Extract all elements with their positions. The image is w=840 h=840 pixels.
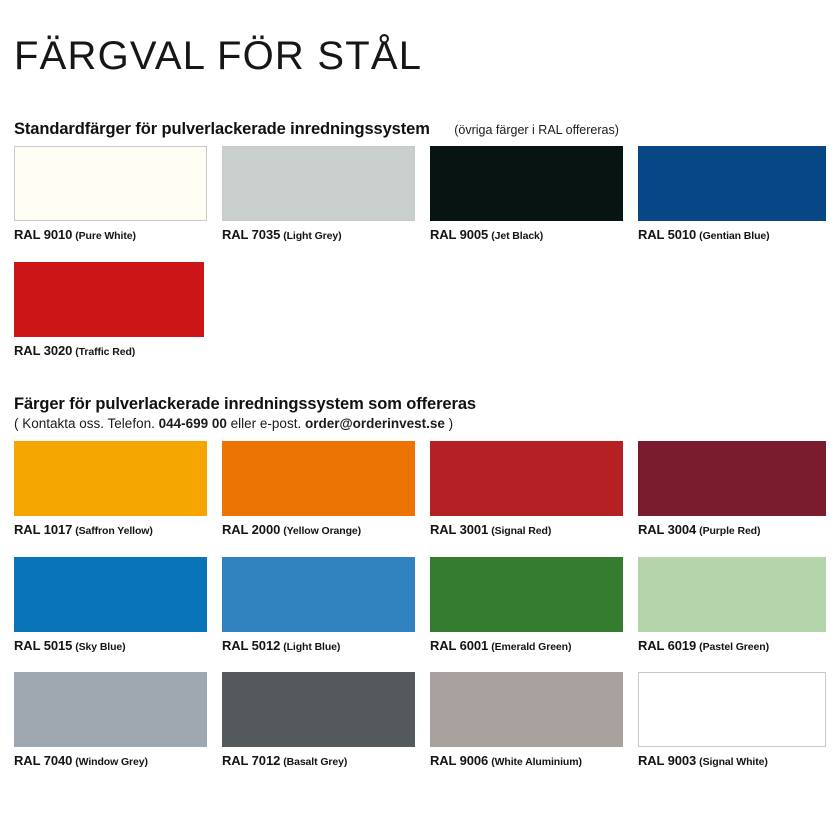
swatch-cell-ral-3004[interactable]: RAL 3004(Purple Red) bbox=[638, 441, 826, 539]
swatch-name: (Jet Black) bbox=[491, 230, 543, 242]
page-title: FÄRGVAL FÖR STÅL bbox=[14, 36, 422, 76]
swatch-code: RAL 9010 bbox=[14, 227, 72, 242]
swatch-name: (Signal Red) bbox=[491, 525, 551, 537]
color-swatch[interactable] bbox=[14, 672, 207, 747]
swatch-label: RAL 7035(Light Grey) bbox=[222, 226, 415, 244]
swatch-cell-ral-7035[interactable]: RAL 7035(Light Grey) bbox=[222, 146, 415, 244]
color-swatch[interactable] bbox=[14, 146, 207, 221]
swatch-label: RAL 5015(Sky Blue) bbox=[14, 637, 207, 655]
swatch-name: (Basalt Grey) bbox=[283, 756, 347, 768]
swatch-name: (Window Grey) bbox=[75, 756, 148, 768]
swatch-name: (Purple Red) bbox=[699, 525, 760, 537]
swatch-code: RAL 1017 bbox=[14, 522, 72, 537]
swatch-code: RAL 3001 bbox=[430, 522, 488, 537]
color-swatch[interactable] bbox=[638, 146, 826, 221]
swatch-name: (Yellow Orange) bbox=[283, 525, 361, 537]
color-swatch[interactable] bbox=[14, 557, 207, 632]
swatch-label: RAL 5012(Light Blue) bbox=[222, 637, 415, 655]
swatch-label: RAL 6019(Pastel Green) bbox=[638, 637, 826, 655]
swatch-cell-ral-3001[interactable]: RAL 3001(Signal Red) bbox=[430, 441, 623, 539]
swatch-name: (Sky Blue) bbox=[75, 641, 125, 653]
section-heading-offered: Färger för pulverlackerade inredningssys… bbox=[14, 395, 476, 414]
swatch-code: RAL 9005 bbox=[430, 227, 488, 242]
swatch-grid-standard: RAL 9010(Pure White)RAL 7035(Light Grey)… bbox=[14, 146, 826, 377]
contact-line: ( Kontakta oss. Telefon. 044-699 00 elle… bbox=[14, 416, 453, 431]
section-heading-offered-text: Färger för pulverlackerade inredningssys… bbox=[14, 395, 476, 413]
swatch-cell-ral-5010[interactable]: RAL 5010(Gentian Blue) bbox=[638, 146, 826, 244]
swatch-name: (Signal White) bbox=[699, 756, 768, 768]
swatch-code: RAL 5015 bbox=[14, 638, 72, 653]
swatch-row: RAL 3020(Traffic Red) bbox=[14, 262, 826, 378]
swatch-label: RAL 3004(Purple Red) bbox=[638, 521, 826, 539]
swatch-label: RAL 7012(Basalt Grey) bbox=[222, 752, 415, 770]
section-heading-standard: Standardfärger för pulverlackerade inred… bbox=[14, 120, 619, 139]
swatch-code: RAL 5012 bbox=[222, 638, 280, 653]
swatch-label: RAL 2000(Yellow Orange) bbox=[222, 521, 415, 539]
color-swatch[interactable] bbox=[638, 557, 826, 632]
color-swatch[interactable] bbox=[222, 441, 415, 516]
color-swatch[interactable] bbox=[430, 146, 623, 221]
contact-prefix: ( Kontakta oss. Telefon. bbox=[14, 416, 159, 431]
swatch-code: RAL 3004 bbox=[638, 522, 696, 537]
swatch-row: RAL 1017(Saffron Yellow)RAL 2000(Yellow … bbox=[14, 441, 826, 557]
swatch-grid-offered: RAL 1017(Saffron Yellow)RAL 2000(Yellow … bbox=[14, 441, 826, 788]
swatch-name: (Gentian Blue) bbox=[699, 230, 769, 242]
swatch-code: RAL 5010 bbox=[638, 227, 696, 242]
swatch-label: RAL 9003(Signal White) bbox=[638, 752, 826, 770]
swatch-code: RAL 2000 bbox=[222, 522, 280, 537]
swatch-cell-ral-6019[interactable]: RAL 6019(Pastel Green) bbox=[638, 557, 826, 655]
swatch-label: RAL 3001(Signal Red) bbox=[430, 521, 623, 539]
color-swatch[interactable] bbox=[222, 146, 415, 221]
swatch-cell-ral-9010[interactable]: RAL 9010(Pure White) bbox=[14, 146, 207, 244]
swatch-label: RAL 9010(Pure White) bbox=[14, 226, 207, 244]
swatch-label: RAL 1017(Saffron Yellow) bbox=[14, 521, 207, 539]
section-heading-standard-note: (övriga färger i RAL offereras) bbox=[454, 123, 619, 137]
swatch-cell-ral-5012[interactable]: RAL 5012(Light Blue) bbox=[222, 557, 415, 655]
swatch-code: RAL 7012 bbox=[222, 753, 280, 768]
color-swatch[interactable] bbox=[14, 262, 204, 337]
color-chart-page: FÄRGVAL FÖR STÅL Standardfärger för pulv… bbox=[0, 0, 840, 840]
swatch-code: RAL 9003 bbox=[638, 753, 696, 768]
swatch-cell-ral-1017[interactable]: RAL 1017(Saffron Yellow) bbox=[14, 441, 207, 539]
swatch-label: RAL 3020(Traffic Red) bbox=[14, 342, 204, 360]
swatch-label: RAL 6001(Emerald Green) bbox=[430, 637, 623, 655]
contact-suffix: ) bbox=[445, 416, 453, 431]
color-swatch[interactable] bbox=[430, 672, 623, 747]
swatch-cell-ral-2000[interactable]: RAL 2000(Yellow Orange) bbox=[222, 441, 415, 539]
swatch-cell-ral-7012[interactable]: RAL 7012(Basalt Grey) bbox=[222, 672, 415, 770]
swatch-row: RAL 9010(Pure White)RAL 7035(Light Grey)… bbox=[14, 146, 826, 262]
swatch-name: (Light Grey) bbox=[283, 230, 341, 242]
swatch-name: (White Aluminium) bbox=[491, 756, 582, 768]
swatch-code: RAL 6019 bbox=[638, 638, 696, 653]
swatch-cell-ral-7040[interactable]: RAL 7040(Window Grey) bbox=[14, 672, 207, 770]
section-heading-standard-text: Standardfärger för pulverlackerade inred… bbox=[14, 120, 430, 138]
swatch-label: RAL 9005(Jet Black) bbox=[430, 226, 623, 244]
swatch-row: RAL 7040(Window Grey)RAL 7012(Basalt Gre… bbox=[14, 672, 826, 788]
color-swatch[interactable] bbox=[14, 441, 207, 516]
color-swatch[interactable] bbox=[430, 441, 623, 516]
color-swatch[interactable] bbox=[638, 672, 826, 747]
swatch-label: RAL 9006(White Aluminium) bbox=[430, 752, 623, 770]
swatch-name: (Emerald Green) bbox=[491, 641, 571, 653]
contact-email[interactable]: order@orderinvest.se bbox=[305, 416, 445, 431]
swatch-name: (Traffic Red) bbox=[75, 346, 135, 358]
swatch-code: RAL 6001 bbox=[430, 638, 488, 653]
color-swatch[interactable] bbox=[222, 557, 415, 632]
swatch-code: RAL 7035 bbox=[222, 227, 280, 242]
swatch-code: RAL 9006 bbox=[430, 753, 488, 768]
swatch-row: RAL 5015(Sky Blue)RAL 5012(Light Blue)RA… bbox=[14, 557, 826, 673]
swatch-name: (Pastel Green) bbox=[699, 641, 769, 653]
swatch-code: RAL 3020 bbox=[14, 343, 72, 358]
swatch-cell-ral-6001[interactable]: RAL 6001(Emerald Green) bbox=[430, 557, 623, 655]
swatch-name: (Saffron Yellow) bbox=[75, 525, 153, 537]
swatch-cell-ral-9006[interactable]: RAL 9006(White Aluminium) bbox=[430, 672, 623, 770]
swatch-code: RAL 7040 bbox=[14, 753, 72, 768]
swatch-label: RAL 5010(Gentian Blue) bbox=[638, 226, 826, 244]
color-swatch[interactable] bbox=[430, 557, 623, 632]
swatch-cell-ral-3020[interactable]: RAL 3020(Traffic Red) bbox=[14, 262, 204, 360]
swatch-name: (Light Blue) bbox=[283, 641, 340, 653]
color-swatch[interactable] bbox=[222, 672, 415, 747]
swatch-cell-ral-9003[interactable]: RAL 9003(Signal White) bbox=[638, 672, 826, 770]
contact-phone[interactable]: 044-699 00 bbox=[159, 416, 227, 431]
swatch-label: RAL 7040(Window Grey) bbox=[14, 752, 207, 770]
swatch-cell-ral-5015[interactable]: RAL 5015(Sky Blue) bbox=[14, 557, 207, 655]
swatch-cell-ral-9005[interactable]: RAL 9005(Jet Black) bbox=[430, 146, 623, 244]
contact-middle: eller e-post. bbox=[227, 416, 305, 431]
swatch-name: (Pure White) bbox=[75, 230, 136, 242]
color-swatch[interactable] bbox=[638, 441, 826, 516]
